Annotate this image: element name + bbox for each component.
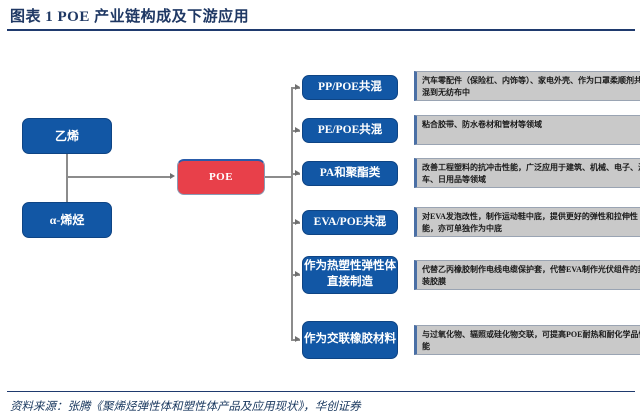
arrow-head-branch-5 <box>295 271 300 277</box>
diagram-canvas: 乙烯 α-烯烃 POE PP/POE共混 汽车零配件（保险杠、内饰等）、家电外壳… <box>0 34 640 389</box>
branch-label-thermoplastic-elastomer[interactable]: 作为热塑性弹性体直接制造 <box>302 256 398 294</box>
arrow-head-branch-2 <box>295 127 300 133</box>
connector-inputs-vertical <box>66 154 68 202</box>
arrow-head-branch-3 <box>295 170 300 176</box>
node-alpha-olefin[interactable]: α-烯烃 <box>22 202 112 238</box>
page-title: 图表 1 POE 产业链构成及下游应用 <box>10 5 249 26</box>
branch-description-pp-poe-blend: 汽车零配件（保险杠、内饰等）、家电外壳、作为口罩柔顺剂共混到无纺布中 <box>414 71 640 101</box>
branch-description-eva-poe-blend: 对EVA发泡改性，制作运动鞋中底，提供更好的弹性和拉伸性能，亦可单独作为中底 <box>414 207 640 237</box>
branch-description-pa-polyester: 改善工程塑料的抗冲击性能，广泛应用于建筑、机械、电子、汽车、日用品等领域 <box>414 158 640 188</box>
node-ethylene[interactable]: 乙烯 <box>22 118 112 154</box>
branch-label-pa-polyester[interactable]: PA和聚酯类 <box>302 161 398 186</box>
source-note: 资料来源：张腾《聚烯烃弹性体和塑性体产品及应用现状》，华创证券 <box>10 398 361 414</box>
branch-description-crosslinked-rubber: 与过氧化物、辐照或硅化物交联，可提高POE耐热和耐化学品性能 <box>414 325 640 355</box>
arrow-head-branch-4 <box>295 219 300 225</box>
arrow-head-branch-6 <box>295 336 300 342</box>
branch-label-crosslinked-rubber[interactable]: 作为交联橡胶材料 <box>302 321 398 359</box>
arrow-head-poe-input <box>170 173 175 179</box>
branch-label-pp-poe-blend[interactable]: PP/POE共混 <box>302 75 398 100</box>
branch-description-thermoplastic-elastomer: 代替乙丙橡胶制作电线电缆保护套，代替EVA制作光伏组件的封装胶膜 <box>414 260 640 290</box>
figure-header: 图表 1 POE 产业链构成及下游应用 <box>0 0 640 34</box>
connector-inputs-to-poe <box>66 176 171 178</box>
connector-poe-out <box>265 176 292 178</box>
title-divider <box>7 29 635 31</box>
node-poe[interactable]: POE <box>177 159 265 195</box>
arrow-head-branch-1 <box>295 84 300 90</box>
branch-description-pe-poe-blend: 粘合胶带、防水卷材和管材等领域 <box>414 115 640 145</box>
footer-divider <box>7 391 635 392</box>
connector-trunk <box>291 88 293 340</box>
branch-label-eva-poe-blend[interactable]: EVA/POE共混 <box>302 210 398 235</box>
branch-label-pe-poe-blend[interactable]: PE/POE共混 <box>302 118 398 143</box>
